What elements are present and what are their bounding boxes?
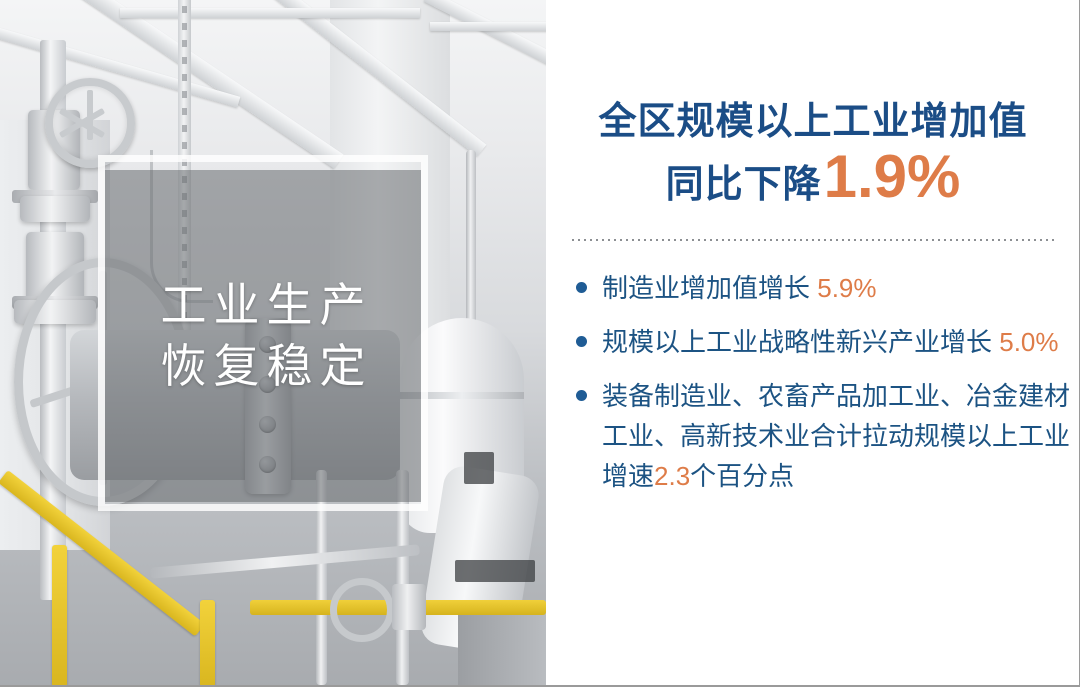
bullet-dot-icon <box>576 282 587 293</box>
bullet-dot-icon <box>576 336 587 347</box>
headline-block: 全区规模以上工业增加值 同比下降 1.9% <box>546 98 1080 209</box>
infographic-slide: 工业生产 恢复稳定 全区规模以上工业增加值 同比下降 1.9% 制造业增加值增长… <box>0 0 1080 687</box>
headline-key-figure: 1.9% <box>824 147 961 207</box>
dotted-divider <box>572 239 1058 241</box>
bullet-text: 制造业增加值增长 <box>602 273 817 303</box>
bullet-text-after: 个百分点 <box>690 461 794 491</box>
valve-handwheel-small <box>330 578 394 642</box>
caption-line-1: 工业生产 <box>154 275 373 336</box>
bullet-value: 5.9% <box>817 273 876 303</box>
industrial-plant-photo: 工业生产 恢复稳定 <box>0 0 546 687</box>
dark-opening <box>455 560 535 582</box>
ceiling-beam <box>430 22 546 31</box>
caption-line-2: 恢复稳定 <box>154 336 373 397</box>
photo-caption-box: 工业生产 恢复稳定 <box>105 170 421 502</box>
content-panel: 全区规模以上工业增加值 同比下降 1.9% 制造业增加值增长 5.9% 规模以上… <box>546 0 1080 687</box>
ceiling-beam <box>120 8 420 18</box>
valve-body <box>20 196 90 222</box>
concrete-column <box>458 610 546 687</box>
list-item: 装备制造业、农畜产品加工业、冶金建材工业、高新技术业合计拉动规模以上工业增速2.… <box>572 376 1072 496</box>
dark-opening <box>464 452 494 484</box>
bullet-value: 2.3 <box>654 461 690 491</box>
list-item: 制造业增加值增长 5.9% <box>572 268 1072 308</box>
yellow-railing-post <box>200 600 215 687</box>
headline-prefix: 同比下降 <box>666 161 822 210</box>
bullet-value: 5.0% <box>999 327 1058 357</box>
headline-line-1: 全区规模以上工业增加值 <box>546 98 1080 147</box>
yellow-railing-post <box>52 545 67 687</box>
bullet-text: 规模以上工业战略性新兴产业增长 <box>602 327 999 357</box>
bullet-dot-icon <box>576 390 587 401</box>
list-item: 规模以上工业战略性新兴产业增长 5.0% <box>572 322 1072 362</box>
bullet-list: 制造业增加值增长 5.9% 规模以上工业战略性新兴产业增长 5.0% 装备制造业… <box>572 268 1072 510</box>
thin-pipe <box>150 544 420 578</box>
inline-valve <box>392 584 426 630</box>
headline-line-2: 同比下降 1.9% <box>546 147 1080 210</box>
